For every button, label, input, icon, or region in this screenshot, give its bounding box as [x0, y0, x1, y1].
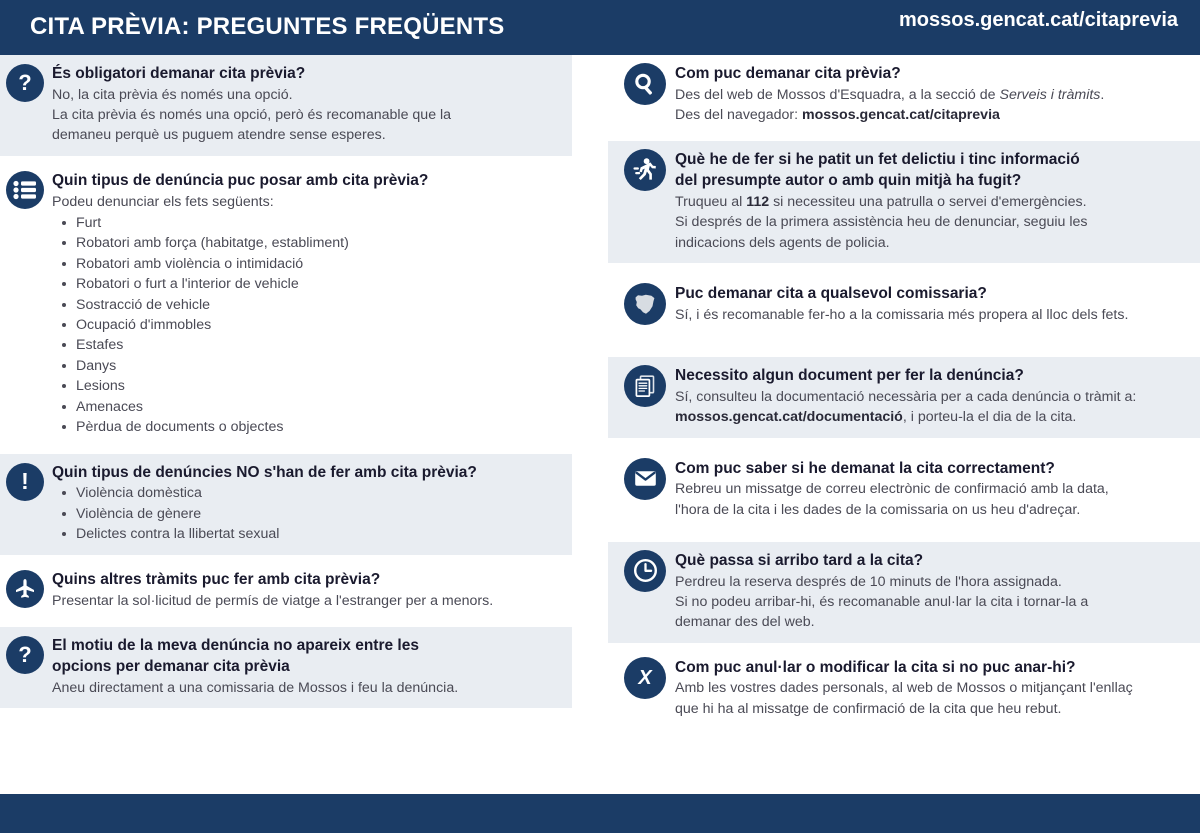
list-item: Robatori amb violència o intimidació — [52, 254, 562, 274]
answer-text: demanar des del web. — [675, 614, 815, 630]
question-mark-icon: ? — [6, 64, 44, 102]
faq-question: Què he de fer si he patit un fet delicti… — [675, 150, 1184, 170]
faq-bullet-list: FurtRobatori amb força (habitatge, estab… — [52, 213, 562, 438]
faq-item: Què he de fer si he patit un fet delicti… — [608, 141, 1200, 263]
answer-text: indicacions dels agents de policia. — [675, 235, 890, 251]
faq-answer: Truqueu al 112 si necessiteu una patrull… — [675, 192, 1184, 253]
catalonia-map-icon — [624, 283, 666, 325]
faq-answer: Presentar la sol·licitud de permís de vi… — [52, 591, 562, 611]
faq-infographic: CITA PRÈVIA: PREGUNTES FREQÜENTS ?És obl… — [0, 0, 1200, 833]
footer-bar — [0, 794, 1200, 833]
faq-question: Com puc demanar cita prèvia? — [675, 64, 1184, 84]
x-cancel-icon: X — [624, 657, 666, 699]
faq-answer-line: Presentar la sol·licitud de permís de vi… — [52, 591, 562, 611]
faq-answer-line: Si no podeu arribar-hi, és recomanable a… — [675, 592, 1184, 612]
faq-item: Puc demanar cita a qualsevol comissaria?… — [608, 275, 1200, 335]
list-item: Estafes — [52, 335, 562, 355]
answer-emphasis: mossos.gencat.cat/documentació — [675, 409, 903, 425]
faq-answer: Amb les vostres dades personals, al web … — [675, 678, 1184, 719]
answer-text: Sí, i és recomanable fer-ho a la comissa… — [675, 307, 1128, 323]
answer-text: Sí, consulteu la documentació necessària… — [675, 389, 1136, 405]
spacer — [608, 438, 1200, 450]
list-item: Violència domèstica — [52, 483, 562, 503]
faq-answer-line: Perdreu la reserva després de 10 minuts … — [675, 572, 1184, 592]
faq-answer-line: Si després de la primera assistència heu… — [675, 212, 1184, 232]
faq-answer-line: Sí, i és recomanable fer-ho a la comissa… — [675, 305, 1184, 325]
list-item: Amenaces — [52, 397, 562, 417]
spacer — [608, 263, 1200, 275]
envelope-icon — [624, 458, 666, 500]
faq-question: Quins altres tràmits puc fer amb cita pr… — [52, 570, 562, 590]
faq-item: Què passa si arribo tard a la cita?Perdr… — [608, 542, 1200, 643]
faq-answer-line: que hi ha al missatge de confirmació de … — [675, 699, 1184, 719]
faq-answer-line: Des del navegador: mossos.gencat.cat/cit… — [675, 105, 1184, 125]
answer-text: Perdreu la reserva després de 10 minuts … — [675, 574, 1062, 590]
faq-answer: Sí, consulteu la documentació necessària… — [675, 387, 1184, 428]
answer-emphasis: 112 — [746, 194, 769, 210]
faq-question: Quin tipus de denúncia puc posar amb cit… — [52, 171, 562, 191]
faq-answer-line: Aneu directament a una comissaria de Mos… — [52, 678, 562, 698]
right-column: Com puc demanar cita prèvia?Des del web … — [608, 55, 1200, 729]
list-item: Robatori o furt a l'interior de vehicle — [52, 274, 562, 294]
faq-answer-line: La cita prèvia és només una opció, però … — [52, 105, 562, 125]
list-item: Violència de gènere — [52, 504, 562, 524]
faq-question: El motiu de la meva denúncia no apareix … — [52, 636, 562, 656]
faq-answer-line: mossos.gencat.cat/documentació, i porteu… — [675, 407, 1184, 427]
faq-answer: Des del web de Mossos d'Esquadra, a la s… — [675, 85, 1184, 126]
list-item: Pèrdua de documents o objectes — [52, 417, 562, 437]
faq-item: Quin tipus de denúncia puc posar amb cit… — [0, 162, 572, 448]
faq-question: del presumpte autor o amb quin mitjà ha … — [675, 171, 1184, 191]
answer-text: . — [1100, 87, 1104, 103]
answer-text: Si després de la primera assistència heu… — [675, 214, 1087, 230]
list-item: Sostracció de vehicle — [52, 295, 562, 315]
clock-icon — [624, 550, 666, 592]
faq-answer: Sí, i és recomanable fer-ho a la comissa… — [675, 305, 1184, 325]
airplane-icon — [6, 570, 44, 608]
faq-question: opcions per demanar cita prèvia — [52, 657, 562, 677]
faq-answer-line: Sí, consulteu la documentació necessària… — [675, 387, 1184, 407]
faq-answer: Rebreu un missatge de correu electrònic … — [675, 479, 1184, 520]
answer-text: que hi ha al missatge de confirmació de … — [675, 701, 1061, 717]
faq-question: Quin tipus de denúncies NO s'han de fer … — [52, 463, 562, 483]
faq-answer: Perdreu la reserva després de 10 minuts … — [675, 572, 1184, 633]
footer-url: mossos.gencat.cat/citaprevia — [899, 9, 1178, 32]
answer-text: si necessiteu una patrulla o servei d'em… — [769, 194, 1086, 210]
faq-item: Necessito algun document per fer la denú… — [608, 357, 1200, 437]
faq-bullet-list: Violència domèsticaViolència de gènereDe… — [52, 483, 562, 544]
faq-item: Com puc demanar cita prèvia?Des del web … — [608, 55, 1200, 135]
answer-text: Des del navegador: — [675, 107, 802, 123]
faq-answer-line: Rebreu un missatge de correu electrònic … — [675, 479, 1184, 499]
faq-question: Com puc anul·lar o modificar la cita si … — [675, 658, 1184, 678]
page-title: CITA PRÈVIA: PREGUNTES FREQÜENTS — [30, 13, 504, 41]
faq-item: ?El motiu de la meva denúncia no apareix… — [0, 627, 572, 708]
faq-answer-line: Des del web de Mossos d'Esquadra, a la s… — [675, 85, 1184, 105]
faq-item: XCom puc anul·lar o modificar la cita si… — [608, 649, 1200, 729]
answer-text: Rebreu un missatge de correu electrònic … — [675, 481, 1109, 497]
list-item: Lesions — [52, 376, 562, 396]
list-item: Furt — [52, 213, 562, 233]
documents-icon — [624, 365, 666, 407]
faq-answer: No, la cita prèvia és només una opció.La… — [52, 85, 562, 146]
magnifier-icon — [624, 63, 666, 105]
faq-answer-line: demanar des del web. — [675, 612, 1184, 632]
list-item: Ocupació d'immobles — [52, 315, 562, 335]
answer-text: Si no podeu arribar-hi, és recomanable a… — [675, 594, 1088, 610]
question-mark-icon: ? — [6, 636, 44, 674]
bullet-list-icon — [6, 171, 44, 209]
faq-question: Puc demanar cita a qualsevol comissaria? — [675, 284, 1184, 304]
faq-question: Com puc saber si he demanat la cita corr… — [675, 459, 1184, 479]
answer-text: , i porteu-la el dia de la cita. — [903, 409, 1077, 425]
left-column: ?És obligatori demanar cita prèvia?No, l… — [0, 55, 572, 708]
faq-answer-line: l'hora de la cita i les dades de la comi… — [675, 500, 1184, 520]
answer-italic: Serveis i tràmits — [999, 87, 1100, 103]
faq-answer: Aneu directament a una comissaria de Mos… — [52, 678, 562, 698]
answer-text: Truqueu al — [675, 194, 746, 210]
faq-answer-line: No, la cita prèvia és només una opció. — [52, 85, 562, 105]
answer-text: Amb les vostres dades personals, al web … — [675, 680, 1133, 696]
faq-item: !Quin tipus de denúncies NO s'han de fer… — [0, 454, 572, 555]
faq-answer-line: demaneu perquè us puguem atendre sense e… — [52, 125, 562, 145]
faq-answer: Violència domèsticaViolència de gènereDe… — [52, 483, 562, 544]
list-item: Danys — [52, 356, 562, 376]
list-item: Delictes contra la llibertat sexual — [52, 524, 562, 544]
running-person-icon — [624, 149, 666, 191]
faq-question: Què passa si arribo tard a la cita? — [675, 551, 1184, 571]
faq-answer-line: Truqueu al 112 si necessiteu una patrull… — [675, 192, 1184, 212]
answer-text: l'hora de la cita i les dades de la comi… — [675, 502, 1080, 518]
faq-item: Com puc saber si he demanat la cita corr… — [608, 450, 1200, 530]
faq-answer-line: Amb les vostres dades personals, al web … — [675, 678, 1184, 698]
list-item: Robatori amb força (habitatge, establime… — [52, 233, 562, 253]
faq-question: Necessito algun document per fer la denú… — [675, 366, 1184, 386]
answer-text: Des del web de Mossos d'Esquadra, a la s… — [675, 87, 999, 103]
spacer — [608, 335, 1200, 357]
faq-question: És obligatori demanar cita prèvia? — [52, 64, 562, 84]
faq-answer-line: indicacions dels agents de policia. — [675, 233, 1184, 253]
faq-answer: Podeu denunciar els fets següents:FurtRo… — [52, 192, 562, 438]
spacer — [608, 530, 1200, 542]
faq-item: Quins altres tràmits puc fer amb cita pr… — [0, 561, 572, 621]
exclamation-mark-icon: ! — [6, 463, 44, 501]
answer-emphasis: mossos.gencat.cat/citaprevia — [802, 107, 1000, 123]
faq-answer-line: Podeu denunciar els fets següents: — [52, 192, 562, 212]
faq-item: ?És obligatori demanar cita prèvia?No, l… — [0, 55, 572, 156]
